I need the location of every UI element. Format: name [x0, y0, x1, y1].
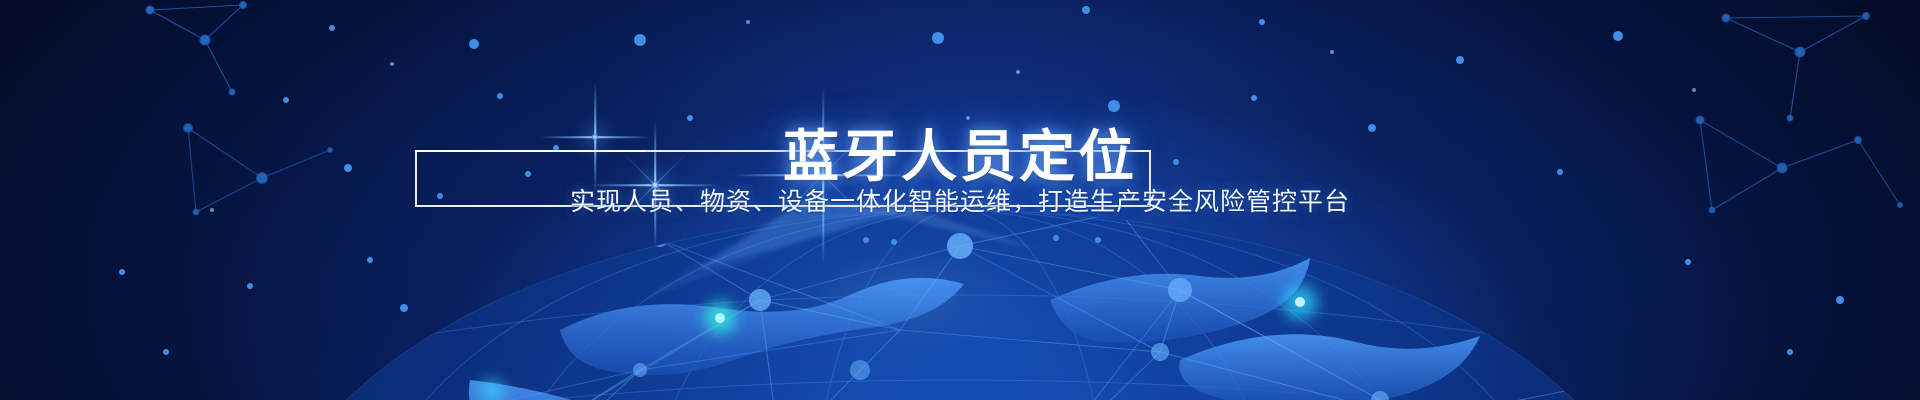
page-subtitle: 实现人员、物资、设备一体化智能运维，打造生产安全风险管控平台	[0, 185, 1920, 219]
constellation-left	[146, 2, 247, 96]
constellation-right	[1722, 13, 1870, 122]
hero-banner: 蓝牙人员定位 实现人员、物资、设备一体化智能运维，打造生产安全风险管控平台	[0, 0, 1920, 400]
page-title: 蓝牙人员定位	[0, 126, 1920, 188]
